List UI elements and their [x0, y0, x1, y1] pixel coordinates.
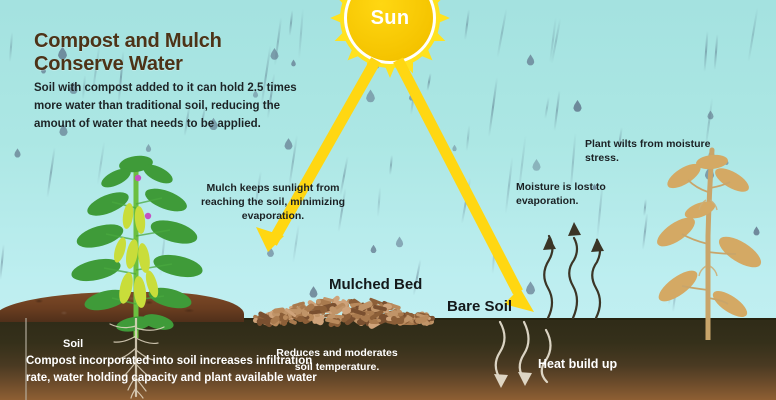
rain-drop [285, 138, 293, 150]
rain-drop [525, 281, 534, 294]
rain-drop [452, 144, 457, 151]
rain-streak [492, 235, 497, 273]
rain-streak [553, 90, 560, 131]
rain-streak [703, 31, 708, 72]
rain-streak [504, 157, 513, 214]
label-heat-build-up: Heat build up [538, 357, 617, 371]
note-mulch-shade: Mulch keeps sunlight from reaching the s… [198, 181, 348, 224]
note-plant-wilts: Plant wilts from moisture stress. [585, 137, 725, 165]
rain-streak [461, 178, 471, 224]
rain-drop [573, 100, 581, 112]
rain-drop [266, 247, 273, 257]
rain-drop [14, 148, 21, 157]
mulch-chip [282, 314, 288, 319]
rain-streak [0, 244, 5, 280]
note-soil-temperature: Reduces and moderates soil temperature. [271, 346, 403, 374]
rain-drop [526, 54, 534, 65]
rain-streak [389, 154, 393, 174]
sun-label: Sun [371, 7, 410, 30]
label-bare-soil: Bare Soil [447, 298, 512, 315]
rain-streak [496, 8, 507, 57]
rain-streak [292, 224, 300, 262]
rain-drop [370, 245, 376, 254]
rain-streak [9, 32, 13, 62]
mulch-pile [252, 296, 424, 320]
rain-streak [713, 34, 718, 70]
mulch-chip [316, 299, 321, 305]
label-mulched-bed: Mulched Bed [329, 276, 422, 293]
note-moisture-loss: Moisture is lost to evaporation. [516, 180, 646, 208]
rain-streak [377, 187, 381, 217]
label-soil: Soil [63, 338, 83, 350]
healthy-plant-icon [62, 138, 212, 338]
wilted-plant-icon [648, 140, 768, 340]
title-line-2: Conserve Water [34, 53, 314, 76]
page-title: Compost and Mulch Conserve Water [34, 30, 314, 76]
sun-icon: Sun [330, 0, 450, 78]
rain-drop [395, 237, 403, 248]
rain-streak [466, 125, 471, 151]
mulch-chip [394, 318, 404, 324]
rain-streak [46, 147, 55, 198]
infographic-canvas: Sun [0, 0, 776, 400]
rain-streak [747, 8, 758, 63]
title-line-1: Compost and Mulch [34, 30, 314, 53]
rain-drop [365, 90, 374, 103]
rain-streak [464, 9, 470, 40]
rain-streak [488, 77, 498, 137]
intro-paragraph: Soil with compost added to it can hold 2… [34, 80, 300, 133]
mulch-chip [335, 314, 344, 317]
rain-drop [532, 159, 540, 171]
rain-streak [545, 97, 550, 119]
